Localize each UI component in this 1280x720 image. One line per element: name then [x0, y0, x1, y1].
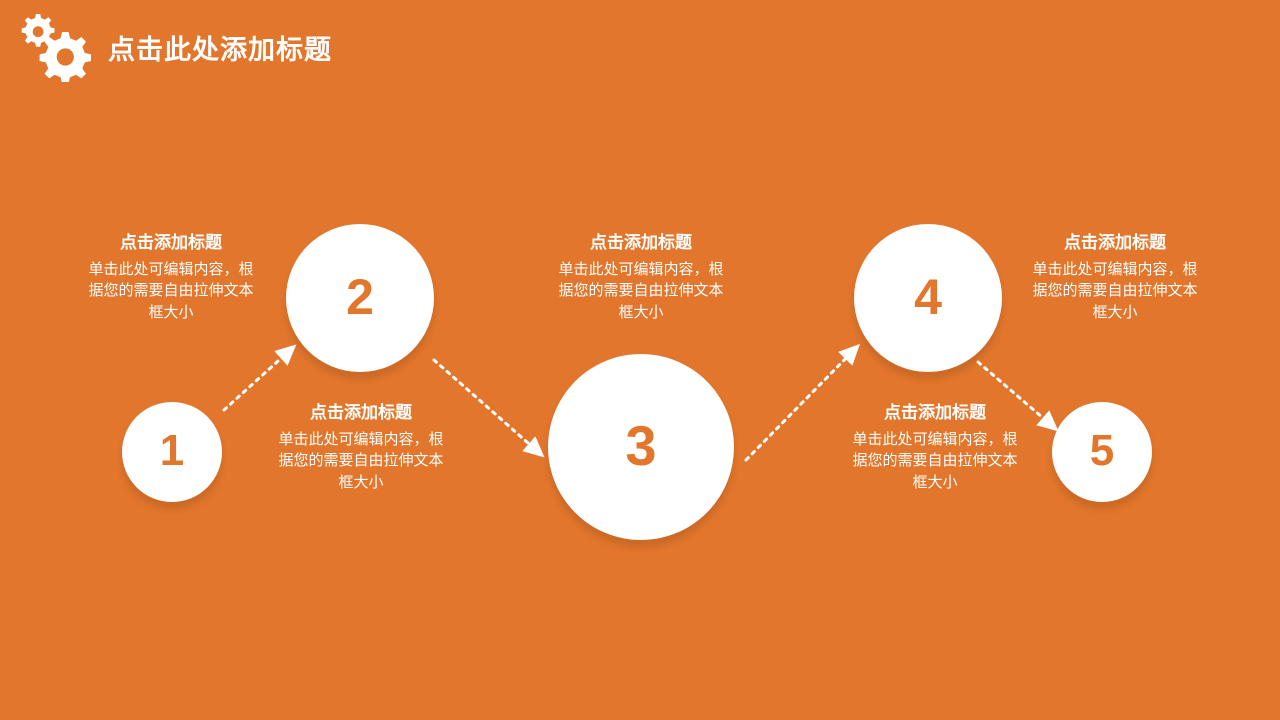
step-title-3: 点击添加标题 [552, 228, 730, 253]
step-circle-4[interactable]: 4 [854, 224, 1002, 372]
step-body-3: 单击此处可编辑内容，根据您的需要自由拉伸文本框大小 [552, 259, 730, 323]
step-body-4: 单击此处可编辑内容，根据您的需要自由拉伸文本框大小 [846, 429, 1024, 493]
step-circle-3[interactable]: 3 [548, 354, 734, 540]
step-title-4: 点击添加标题 [846, 398, 1024, 423]
step-text-2: 点击添加标题 单击此处可编辑内容，根据您的需要自由拉伸文本框大小 [272, 398, 450, 493]
arrow-3-to-4 [746, 352, 852, 460]
step-number-5: 5 [1090, 429, 1114, 473]
step-number-2: 2 [346, 272, 374, 322]
gears-icon [14, 10, 92, 82]
step-body-1: 单击此处可编辑内容，根据您的需要自由拉伸文本框大小 [86, 259, 256, 323]
step-title-1: 点击添加标题 [86, 228, 256, 253]
step-circle-2[interactable]: 2 [286, 224, 434, 372]
step-title-2: 点击添加标题 [272, 398, 450, 423]
step-number-3: 3 [625, 418, 656, 474]
step-body-2: 单击此处可编辑内容，根据您的需要自由拉伸文本框大小 [272, 429, 450, 493]
page-title: 点击此处添加标题 [108, 28, 332, 67]
step-body-5: 单击此处可编辑内容，根据您的需要自由拉伸文本框大小 [1026, 259, 1204, 323]
step-text-1: 点击添加标题 单击此处可编辑内容，根据您的需要自由拉伸文本框大小 [86, 228, 256, 323]
step-circle-1[interactable]: 1 [122, 402, 222, 502]
slide-header: 点击此处添加标题 [0, 0, 1280, 95]
slide-canvas: 点击此处添加标题 1 点击添加标题 单击此处可编辑内容，根据您的需要自由拉伸文本… [0, 0, 1280, 720]
step-number-4: 4 [914, 272, 942, 322]
step-text-4: 点击添加标题 单击此处可编辑内容，根据您的需要自由拉伸文本框大小 [846, 398, 1024, 493]
step-text-5: 点击添加标题 单击此处可编辑内容，根据您的需要自由拉伸文本框大小 [1026, 228, 1204, 323]
step-circle-5[interactable]: 5 [1052, 402, 1152, 502]
step-title-5: 点击添加标题 [1026, 228, 1204, 253]
step-text-3: 点击添加标题 单击此处可编辑内容，根据您的需要自由拉伸文本框大小 [552, 228, 730, 323]
step-number-1: 1 [160, 429, 184, 473]
